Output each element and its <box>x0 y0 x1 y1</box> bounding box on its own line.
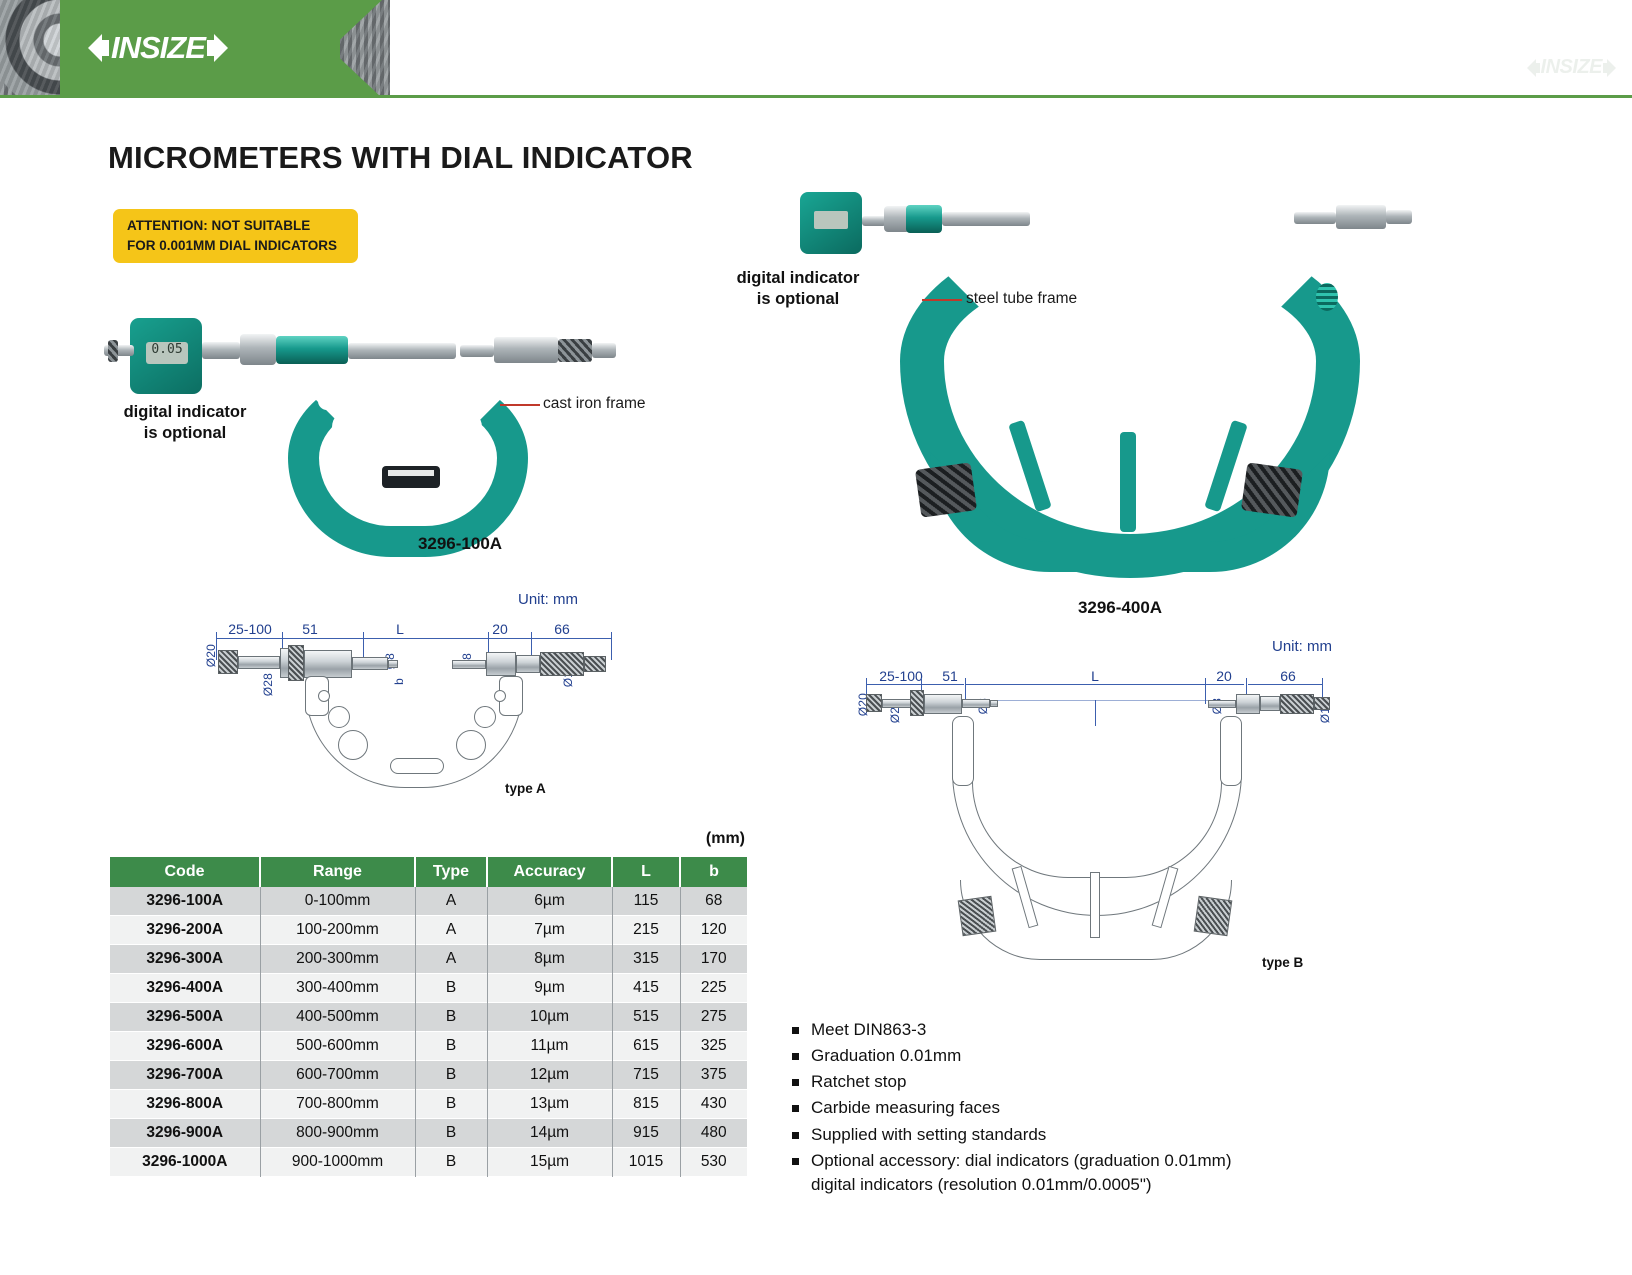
cell-accuracy: 12µm <box>487 1061 612 1090</box>
dim-line-L-right <box>966 684 1206 685</box>
cell-code: 3296-200A <box>110 916 260 945</box>
dim-20-left: 20 <box>480 621 520 637</box>
cell-b: 375 <box>680 1061 747 1090</box>
dim-tick-1 <box>216 632 217 660</box>
left-spindle-1 <box>202 342 240 359</box>
dim-20-right: 20 <box>1204 668 1244 684</box>
cell-range: 800-900mm <box>260 1119 415 1148</box>
dim-b-left: b <box>392 678 406 685</box>
tb-left-anvil <box>866 694 882 712</box>
cell-b: 225 <box>680 974 747 1003</box>
cell-range: 700-800mm <box>260 1090 415 1119</box>
logo-right-bar-icon <box>207 40 214 56</box>
cell-l: 215 <box>612 916 680 945</box>
cell-b: 530 <box>680 1148 747 1177</box>
ta-hole-1 <box>318 690 330 702</box>
left-optional-note: digital indicator is optional <box>105 402 265 445</box>
ta-knurl-1 <box>288 645 304 681</box>
table-unit-note: (mm) <box>600 830 745 848</box>
tb-ratchet <box>1314 697 1330 710</box>
watermark-right-arrow-icon <box>1607 59 1616 77</box>
cell-l: 1015 <box>612 1148 680 1177</box>
right-photo-stem <box>862 216 886 226</box>
right-ratchet-cap <box>592 343 616 358</box>
table-row[interactable]: 3296-100A 0-100mm A 6µm 115 68 <box>110 887 747 916</box>
header-green-arrow <box>330 0 382 98</box>
column-header-l: L <box>612 857 680 887</box>
tb-right-body <box>1236 694 1260 714</box>
left-shaft <box>348 343 456 359</box>
table-row[interactable]: 3296-600A 500-600mm B 11µm 615 325 <box>110 1032 747 1061</box>
cell-accuracy: 11µm <box>487 1032 612 1061</box>
dim-line-51 <box>283 638 363 639</box>
page-header: INSIZE INSIZE <box>0 0 1632 98</box>
ta-body <box>304 650 352 678</box>
cell-l: 115 <box>612 887 680 916</box>
dim-66-left: 66 <box>532 621 592 637</box>
table-header-row: Code Range Type Accuracy L b <box>110 857 747 887</box>
cell-accuracy: 9µm <box>487 974 612 1003</box>
table-body: 3296-100A 0-100mm A 6µm 115 68 3296-200A… <box>110 887 747 1177</box>
ta-hole-5 <box>474 706 496 728</box>
dim-dia28-left: Ø28 <box>261 673 275 696</box>
left-model-label: 3296-100A <box>300 534 620 554</box>
cell-range: 100-200mm <box>260 916 415 945</box>
table-row[interactable]: 3296-1000A 900-1000mm B 15µm 1015 530 <box>110 1148 747 1177</box>
dim-line-20 <box>489 638 531 639</box>
feature-text: Meet DIN863-3 <box>811 1020 926 1039</box>
tb-anvil-right-block <box>1194 896 1233 936</box>
watermark-left-arrow-icon <box>1527 59 1536 77</box>
feature-subtext: digital indicators (resolution 0.01mm/0.… <box>811 1173 1231 1197</box>
logo-text: INSIZE <box>109 32 207 63</box>
cell-b: 480 <box>680 1119 747 1148</box>
column-header-b: b <box>680 857 747 887</box>
steel-tube-callout-label: steel tube frame <box>966 290 1077 308</box>
table-row[interactable]: 3296-800A 700-800mm B 13µm 815 430 <box>110 1090 747 1119</box>
cast-iron-callout-leader <box>500 404 540 406</box>
column-header-type: Type <box>415 857 487 887</box>
cell-type: B <box>415 1061 487 1090</box>
cell-type: A <box>415 945 487 974</box>
cell-range: 500-600mm <box>260 1032 415 1061</box>
ta-right-spindle <box>452 660 486 669</box>
page-title: MICROMETERS WITH DIAL INDICATOR <box>108 140 693 176</box>
cell-b: 120 <box>680 916 747 945</box>
tb-arm-right <box>1220 716 1242 786</box>
table-row[interactable]: 3296-500A 400-500mm B 10µm 515 275 <box>110 1003 747 1032</box>
type-b-caption: type B <box>1262 955 1303 970</box>
cell-b: 430 <box>680 1090 747 1119</box>
unit-label-left: Unit: mm <box>518 591 578 608</box>
dim-51-right: 51 <box>930 668 970 684</box>
attention-line-1: ATTENTION: NOT SUITABLE <box>127 216 348 236</box>
cell-code: 3296-100A <box>110 887 260 916</box>
column-header-range: Range <box>260 857 415 887</box>
list-item: Ratchet stop <box>790 1070 1231 1094</box>
dim-tick-3 <box>363 632 364 660</box>
frame-hole-6 <box>438 448 482 492</box>
list-item: Meet DIN863-3 <box>790 1018 1231 1042</box>
tb-barrel <box>1260 696 1280 711</box>
right-photo-cap <box>1386 210 1412 224</box>
cast-iron-callout-label: cast iron frame <box>543 395 646 413</box>
cell-code: 3296-500A <box>110 1003 260 1032</box>
column-header-code: Code <box>110 857 260 887</box>
column-header-accuracy: Accuracy <box>487 857 612 887</box>
cell-l: 815 <box>612 1090 680 1119</box>
tb-right-spindle <box>1208 700 1236 708</box>
ta-hole-6 <box>456 730 486 760</box>
list-item: Optional accessory: dial indicators (gra… <box>790 1149 1231 1197</box>
dim-line-top-left <box>216 638 282 639</box>
dim-tick-6 <box>611 632 612 660</box>
tb-bottom-arc <box>960 880 1232 960</box>
ta-shaft-1 <box>238 656 280 669</box>
cell-code: 3296-900A <box>110 1119 260 1148</box>
left-anvil-knurl <box>108 340 118 362</box>
table-row[interactable]: 3296-400A 300-400mm B 9µm 415 225 <box>110 974 747 1003</box>
attention-line-2: FOR 0.001MM DIAL INDICATORS <box>127 236 348 256</box>
dim-51-left: 51 <box>285 621 335 637</box>
ta-ratchet <box>584 656 606 672</box>
ta-thimble <box>540 652 584 676</box>
right-anvil-block <box>1241 462 1303 517</box>
cell-type: B <box>415 1119 487 1148</box>
dim-line-66-right <box>1248 684 1322 685</box>
feature-text: Supplied with setting standards <box>811 1125 1046 1144</box>
ta-barrel <box>516 655 540 673</box>
table-row[interactable]: 3296-200A 100-200mm A 7µm 215 120 <box>110 916 747 945</box>
cell-accuracy: 14µm <box>487 1119 612 1148</box>
list-item: Supplied with setting standards <box>790 1123 1231 1147</box>
specification-table: Code Range Type Accuracy L b 3296-100A 0… <box>110 857 747 1177</box>
ta-hole-2 <box>328 706 350 728</box>
feature-text: Ratchet stop <box>811 1072 906 1091</box>
insize-watermark: INSIZE <box>1527 56 1616 79</box>
cell-l: 615 <box>612 1032 680 1061</box>
cell-code: 3296-600A <box>110 1032 260 1061</box>
left-optional-note-line2: is optional <box>105 423 265 444</box>
left-teal-sleeve <box>276 336 348 364</box>
feature-list: Meet DIN863-3 Graduation 0.01mm Ratchet … <box>790 1018 1231 1199</box>
frame-nameplate-logo <box>388 470 434 476</box>
insize-logo[interactable]: INSIZE <box>88 32 228 63</box>
frame-badge <box>1316 283 1338 311</box>
cell-code: 3296-400A <box>110 974 260 1003</box>
ta-nameplate-outline <box>390 758 444 774</box>
right-spindle-shaft <box>460 345 494 357</box>
tb-shaft-2 <box>962 699 990 708</box>
cell-type: B <box>415 1032 487 1061</box>
ta-shaft-2 <box>352 657 388 670</box>
cell-type: B <box>415 1003 487 1032</box>
dim-line-top-right <box>866 684 922 685</box>
watermark-text: INSIZE <box>1540 56 1603 79</box>
cell-range: 200-300mm <box>260 945 415 974</box>
cell-range: 600-700mm <box>260 1061 415 1090</box>
table-row[interactable]: 3296-700A 600-700mm B 12µm 715 375 <box>110 1061 747 1090</box>
steel-tube-callout-leader <box>922 299 962 301</box>
dim-line-66 <box>532 638 612 639</box>
right-model-label: 3296-400A <box>960 598 1280 618</box>
ta-hole-4 <box>494 690 506 702</box>
left-optional-note-line1: digital indicator <box>105 402 265 423</box>
right-photo-barrel <box>1336 205 1386 229</box>
cell-range: 400-500mm <box>260 1003 415 1032</box>
cell-b: 170 <box>680 945 747 974</box>
unit-label-right: Unit: mm <box>1272 638 1332 655</box>
dim-L-right: L <box>1065 668 1125 684</box>
cell-accuracy: 7µm <box>487 916 612 945</box>
cell-range: 300-400mm <box>260 974 415 1003</box>
ta-hole-3 <box>338 730 368 760</box>
right-indicator-display <box>814 211 848 229</box>
left-anvil-block <box>915 462 977 517</box>
list-item: Carbide measuring faces <box>790 1096 1231 1120</box>
tb-anvil-left-block <box>958 896 997 936</box>
cell-type: B <box>415 974 487 1003</box>
frame-hole-3 <box>333 448 377 492</box>
table-row[interactable]: 3296-900A 800-900mm B 14µm 915 480 <box>110 1119 747 1148</box>
right-barrel <box>494 337 558 363</box>
ta-spindle-tip <box>388 660 398 668</box>
cell-b: 325 <box>680 1032 747 1061</box>
table-row[interactable]: 3296-300A 200-300mm A 8µm 315 170 <box>110 945 747 974</box>
cell-code: 3296-700A <box>110 1061 260 1090</box>
cell-l: 915 <box>612 1119 680 1148</box>
cell-b: 68 <box>680 887 747 916</box>
cell-type: B <box>415 1148 487 1177</box>
type-a-caption: type A <box>505 781 546 796</box>
ta-left-anvil <box>218 650 238 674</box>
list-item: Graduation 0.01mm <box>790 1044 1231 1068</box>
cell-code: 3296-800A <box>110 1090 260 1119</box>
feature-text: Carbide measuring faces <box>811 1098 1000 1117</box>
tb-spindle-tip <box>990 700 998 707</box>
cell-type: A <box>415 916 487 945</box>
cell-code: 3296-1000A <box>110 1148 260 1177</box>
attention-badge: ATTENTION: NOT SUITABLE FOR 0.001MM DIAL… <box>113 209 358 263</box>
cell-accuracy: 6µm <box>487 887 612 916</box>
frame-hole-1 <box>318 392 336 410</box>
dim-line-51-right <box>922 684 964 685</box>
right-optional-note-line1: digital indicator <box>718 268 878 289</box>
right-photo-head-shaft <box>1294 212 1336 224</box>
indicator-display: 0.05 <box>146 342 188 364</box>
cell-l: 515 <box>612 1003 680 1032</box>
feature-text: Optional accessory: dial indicators (gra… <box>811 1151 1231 1170</box>
right-thimble-knurl <box>558 339 592 362</box>
right-optional-note: digital indicator is optional <box>718 268 878 311</box>
feature-text: Graduation 0.01mm <box>811 1046 961 1065</box>
frame-hole-2 <box>332 410 366 444</box>
frame-hole-5 <box>448 410 482 444</box>
logo-right-arrow-icon <box>214 34 228 62</box>
cell-accuracy: 10µm <box>487 1003 612 1032</box>
cell-code: 3296-300A <box>110 945 260 974</box>
header-green-rule <box>0 95 1632 98</box>
dim-line-L <box>364 638 488 639</box>
cell-range: 900-1000mm <box>260 1148 415 1177</box>
logo-left-bar-icon <box>102 40 109 56</box>
cell-l: 315 <box>612 945 680 974</box>
dim-66-right: 66 <box>1258 668 1318 684</box>
left-collar-nut <box>240 334 276 365</box>
cell-type: B <box>415 1090 487 1119</box>
cell-accuracy: 15µm <box>487 1148 612 1177</box>
cell-accuracy: 8µm <box>487 945 612 974</box>
tb-shaft-1 <box>882 699 912 708</box>
ta-right-body <box>486 652 516 676</box>
right-photo-teal-sleeve <box>906 205 942 233</box>
right-photo-shaft <box>942 212 1030 226</box>
tb-thimble <box>1280 694 1314 714</box>
cell-b: 275 <box>680 1003 747 1032</box>
dim-line-20-right <box>1206 684 1244 685</box>
cell-l: 415 <box>612 974 680 1003</box>
logo-left-arrow-icon <box>88 34 102 62</box>
cell-accuracy: 13µm <box>487 1090 612 1119</box>
tb-arm-left <box>952 716 974 786</box>
dim-L-left: L <box>370 621 430 637</box>
cell-l: 715 <box>612 1061 680 1090</box>
right-optional-note-line2: is optional <box>718 289 878 310</box>
cell-type: A <box>415 887 487 916</box>
tb-knurl-1 <box>910 690 924 716</box>
tb-body <box>924 694 962 714</box>
frame-hole-4 <box>476 392 494 410</box>
cell-range: 0-100mm <box>260 887 415 916</box>
